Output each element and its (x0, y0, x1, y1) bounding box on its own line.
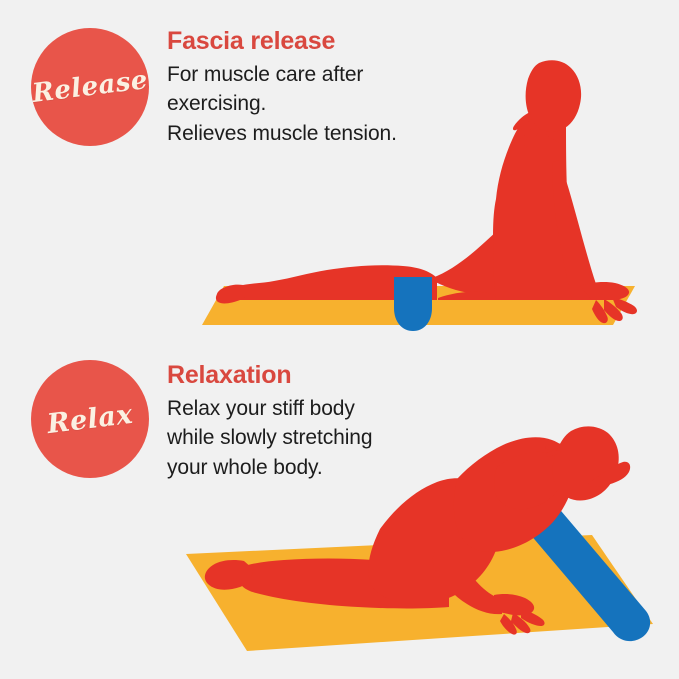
figure-far-foot (216, 285, 249, 304)
body-line-1: For muscle care after (167, 60, 497, 90)
figure-neck (545, 444, 578, 473)
figure-torso (493, 104, 578, 300)
figure-support-arm (553, 160, 602, 300)
heading-relaxation: Relaxation (167, 361, 497, 391)
yoga-mat (186, 535, 653, 651)
body-line-1: Relax your stiff body (167, 394, 497, 424)
foam-roller-upright (394, 277, 432, 331)
text-block-release: Fascia release For muscle care after exe… (167, 27, 497, 149)
figure-neck (530, 104, 566, 146)
body-line-3: your whole body. (167, 453, 497, 483)
figure-hand (494, 594, 545, 635)
figure-head (553, 426, 619, 500)
figure-hair-strands (513, 112, 540, 147)
section-fascia-release: Release Fascia release For muscle care a… (0, 0, 679, 340)
text-block-relax: Relaxation Relax your stiff body while s… (167, 361, 497, 483)
figure-far-foot (205, 560, 253, 590)
body-line-2: while slowly stretching (167, 423, 497, 453)
body-line-2: exercising. (167, 89, 497, 119)
figure-hip (368, 478, 500, 604)
figure-head (526, 60, 582, 132)
figure-hair-strands (546, 444, 562, 458)
figure-bent-leg (432, 199, 546, 300)
body-line-3: Relieves muscle tension. (167, 119, 497, 149)
figure-hand (580, 282, 637, 323)
badge-release[interactable]: Release (31, 28, 149, 146)
section-relaxation: Relax Relaxation Relax your stiff body w… (0, 339, 679, 679)
badge-release-label: Release (31, 65, 150, 109)
figure-legs (239, 559, 449, 609)
yoga-mat (202, 286, 635, 325)
figure-extended-leg (217, 265, 437, 300)
figure-shoulder (494, 452, 563, 509)
heading-fascia-release: Fascia release (167, 27, 497, 57)
infographic-canvas: Release Fascia release For muscle care a… (0, 0, 679, 679)
figure-support-arm (433, 548, 502, 614)
badge-relax-label: Relax (45, 398, 134, 439)
figure-jaw (586, 462, 630, 487)
badge-relax[interactable]: Relax (31, 360, 149, 478)
foam-roller-diagonal (521, 497, 650, 641)
figure-near-foot (438, 292, 497, 300)
